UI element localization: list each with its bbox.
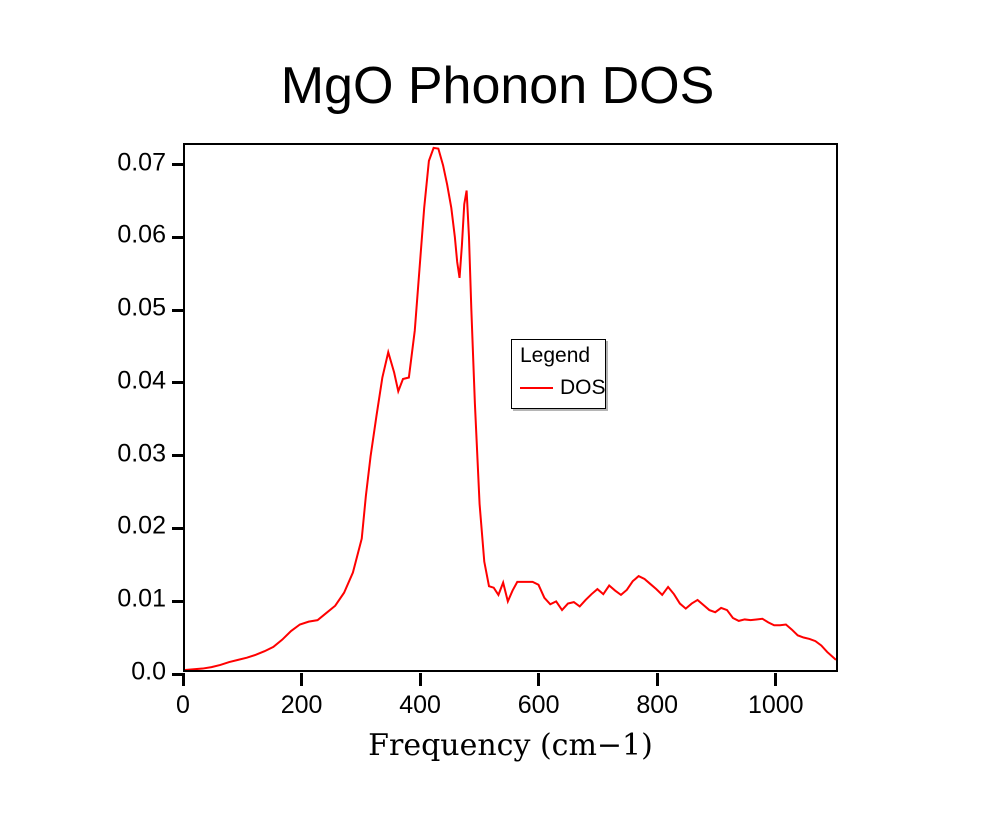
- y-tick-label: 0.06: [117, 221, 166, 250]
- legend-title: Legend: [520, 344, 590, 368]
- y-tick-label: 0.04: [117, 366, 166, 395]
- x-tick-mark: [537, 673, 540, 686]
- x-tick-label: 200: [281, 691, 323, 720]
- chart-title: MgO Phonon DOS: [0, 56, 995, 116]
- y-tick-mark: [172, 600, 185, 603]
- x-axis-title: Frequency (cm−1): [183, 728, 838, 763]
- legend-entry-label: DOS: [560, 376, 606, 400]
- y-tick-mark: [172, 381, 185, 384]
- legend-entry-dos: DOS: [520, 376, 606, 400]
- legend-line-swatch-icon: [520, 387, 553, 389]
- x-tick-label: 400: [399, 691, 441, 720]
- x-tick-mark: [300, 673, 303, 686]
- y-tick-mark: [172, 454, 185, 457]
- y-tick-mark: [172, 309, 185, 312]
- x-axis-tick-marks: 02004006008001000: [183, 673, 838, 688]
- y-tick-label: 0.01: [117, 585, 166, 614]
- y-axis-tick-labels: 0.00.010.020.030.040.050.060.07: [0, 143, 166, 672]
- x-tick-label: 1000: [748, 691, 804, 720]
- x-tick-mark: [774, 673, 777, 686]
- y-tick-label: 0.02: [117, 512, 166, 541]
- x-tick-mark: [182, 673, 185, 686]
- y-tick-label: 0.03: [117, 439, 166, 468]
- x-tick-label: 0: [176, 691, 190, 720]
- y-tick-label: 0.0: [131, 658, 166, 687]
- y-tick-mark: [172, 527, 185, 530]
- y-tick-mark: [172, 163, 185, 166]
- chart-figure: MgO Phonon DOS 0.00.010.020.030.040.050.…: [0, 0, 995, 815]
- x-tick-mark: [419, 673, 422, 686]
- x-tick-mark: [656, 673, 659, 686]
- x-tick-label: 600: [518, 691, 560, 720]
- y-tick-label: 0.07: [117, 148, 166, 177]
- y-tick-mark: [172, 236, 185, 239]
- legend: Legend DOS: [511, 339, 606, 409]
- y-tick-label: 0.05: [117, 294, 166, 323]
- x-tick-label: 800: [636, 691, 678, 720]
